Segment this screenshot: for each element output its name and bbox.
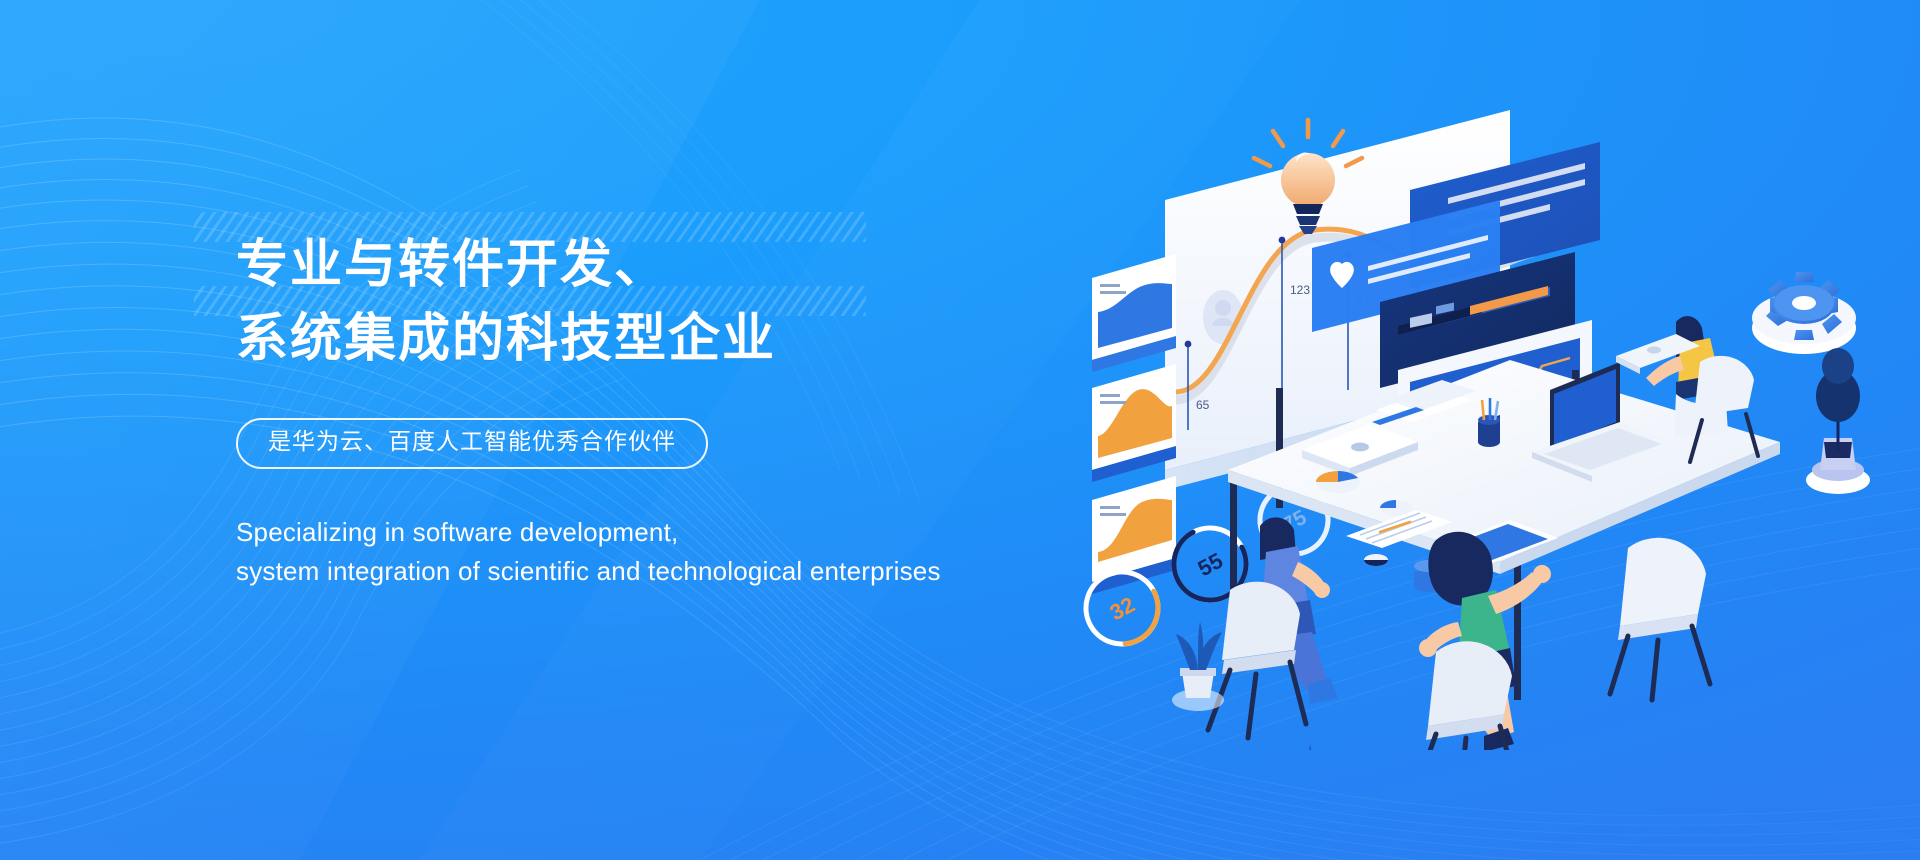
pencil-cup: [1478, 398, 1500, 447]
subtitle-line-1: Specializing in software development,: [236, 513, 1136, 552]
chair-left: [1208, 582, 1306, 738]
partner-badge[interactable]: 是华为云、百度人工智能优秀合作伙伴: [236, 418, 708, 469]
hero-subtitle: Specializing in software development, sy…: [236, 513, 1136, 591]
hero-copy: 专业与转件开发、 系统集成的科技型企业 是华为云、百度人工智能优秀合作伙伴 Sp…: [236, 228, 1136, 591]
chair-right: [1610, 538, 1710, 700]
data-label-65: 65: [1196, 398, 1210, 412]
gauge-label-32: 32: [1106, 592, 1139, 626]
data-label-123: 123: [1290, 283, 1310, 297]
subtitle-line-2: system integration of scientific and tec…: [236, 552, 1136, 591]
headline-line-1: 专业与转件开发、: [236, 228, 1136, 302]
small-bowl: [1364, 554, 1388, 566]
headline-line-2: 系统集成的科技型企业: [236, 302, 1136, 376]
topiary-plant: [1806, 348, 1870, 494]
pie-chart-prop: [1316, 471, 1360, 493]
gear-icon: [1752, 272, 1856, 354]
plant-small: [1172, 622, 1224, 711]
hero-illustration: 65 123 97 81: [1080, 70, 1920, 750]
page-title: 专业与转件开发、 系统集成的科技型企业: [236, 228, 1136, 376]
mini-card-2: [1092, 364, 1176, 482]
plant-bottom: [1278, 744, 1338, 750]
hero-banner: 专业与转件开发、 系统集成的科技型企业 是华为云、百度人工智能优秀合作伙伴 Sp…: [0, 0, 1920, 860]
gauge-label-55: 55: [1194, 548, 1227, 582]
chair-center: [1416, 641, 1516, 750]
